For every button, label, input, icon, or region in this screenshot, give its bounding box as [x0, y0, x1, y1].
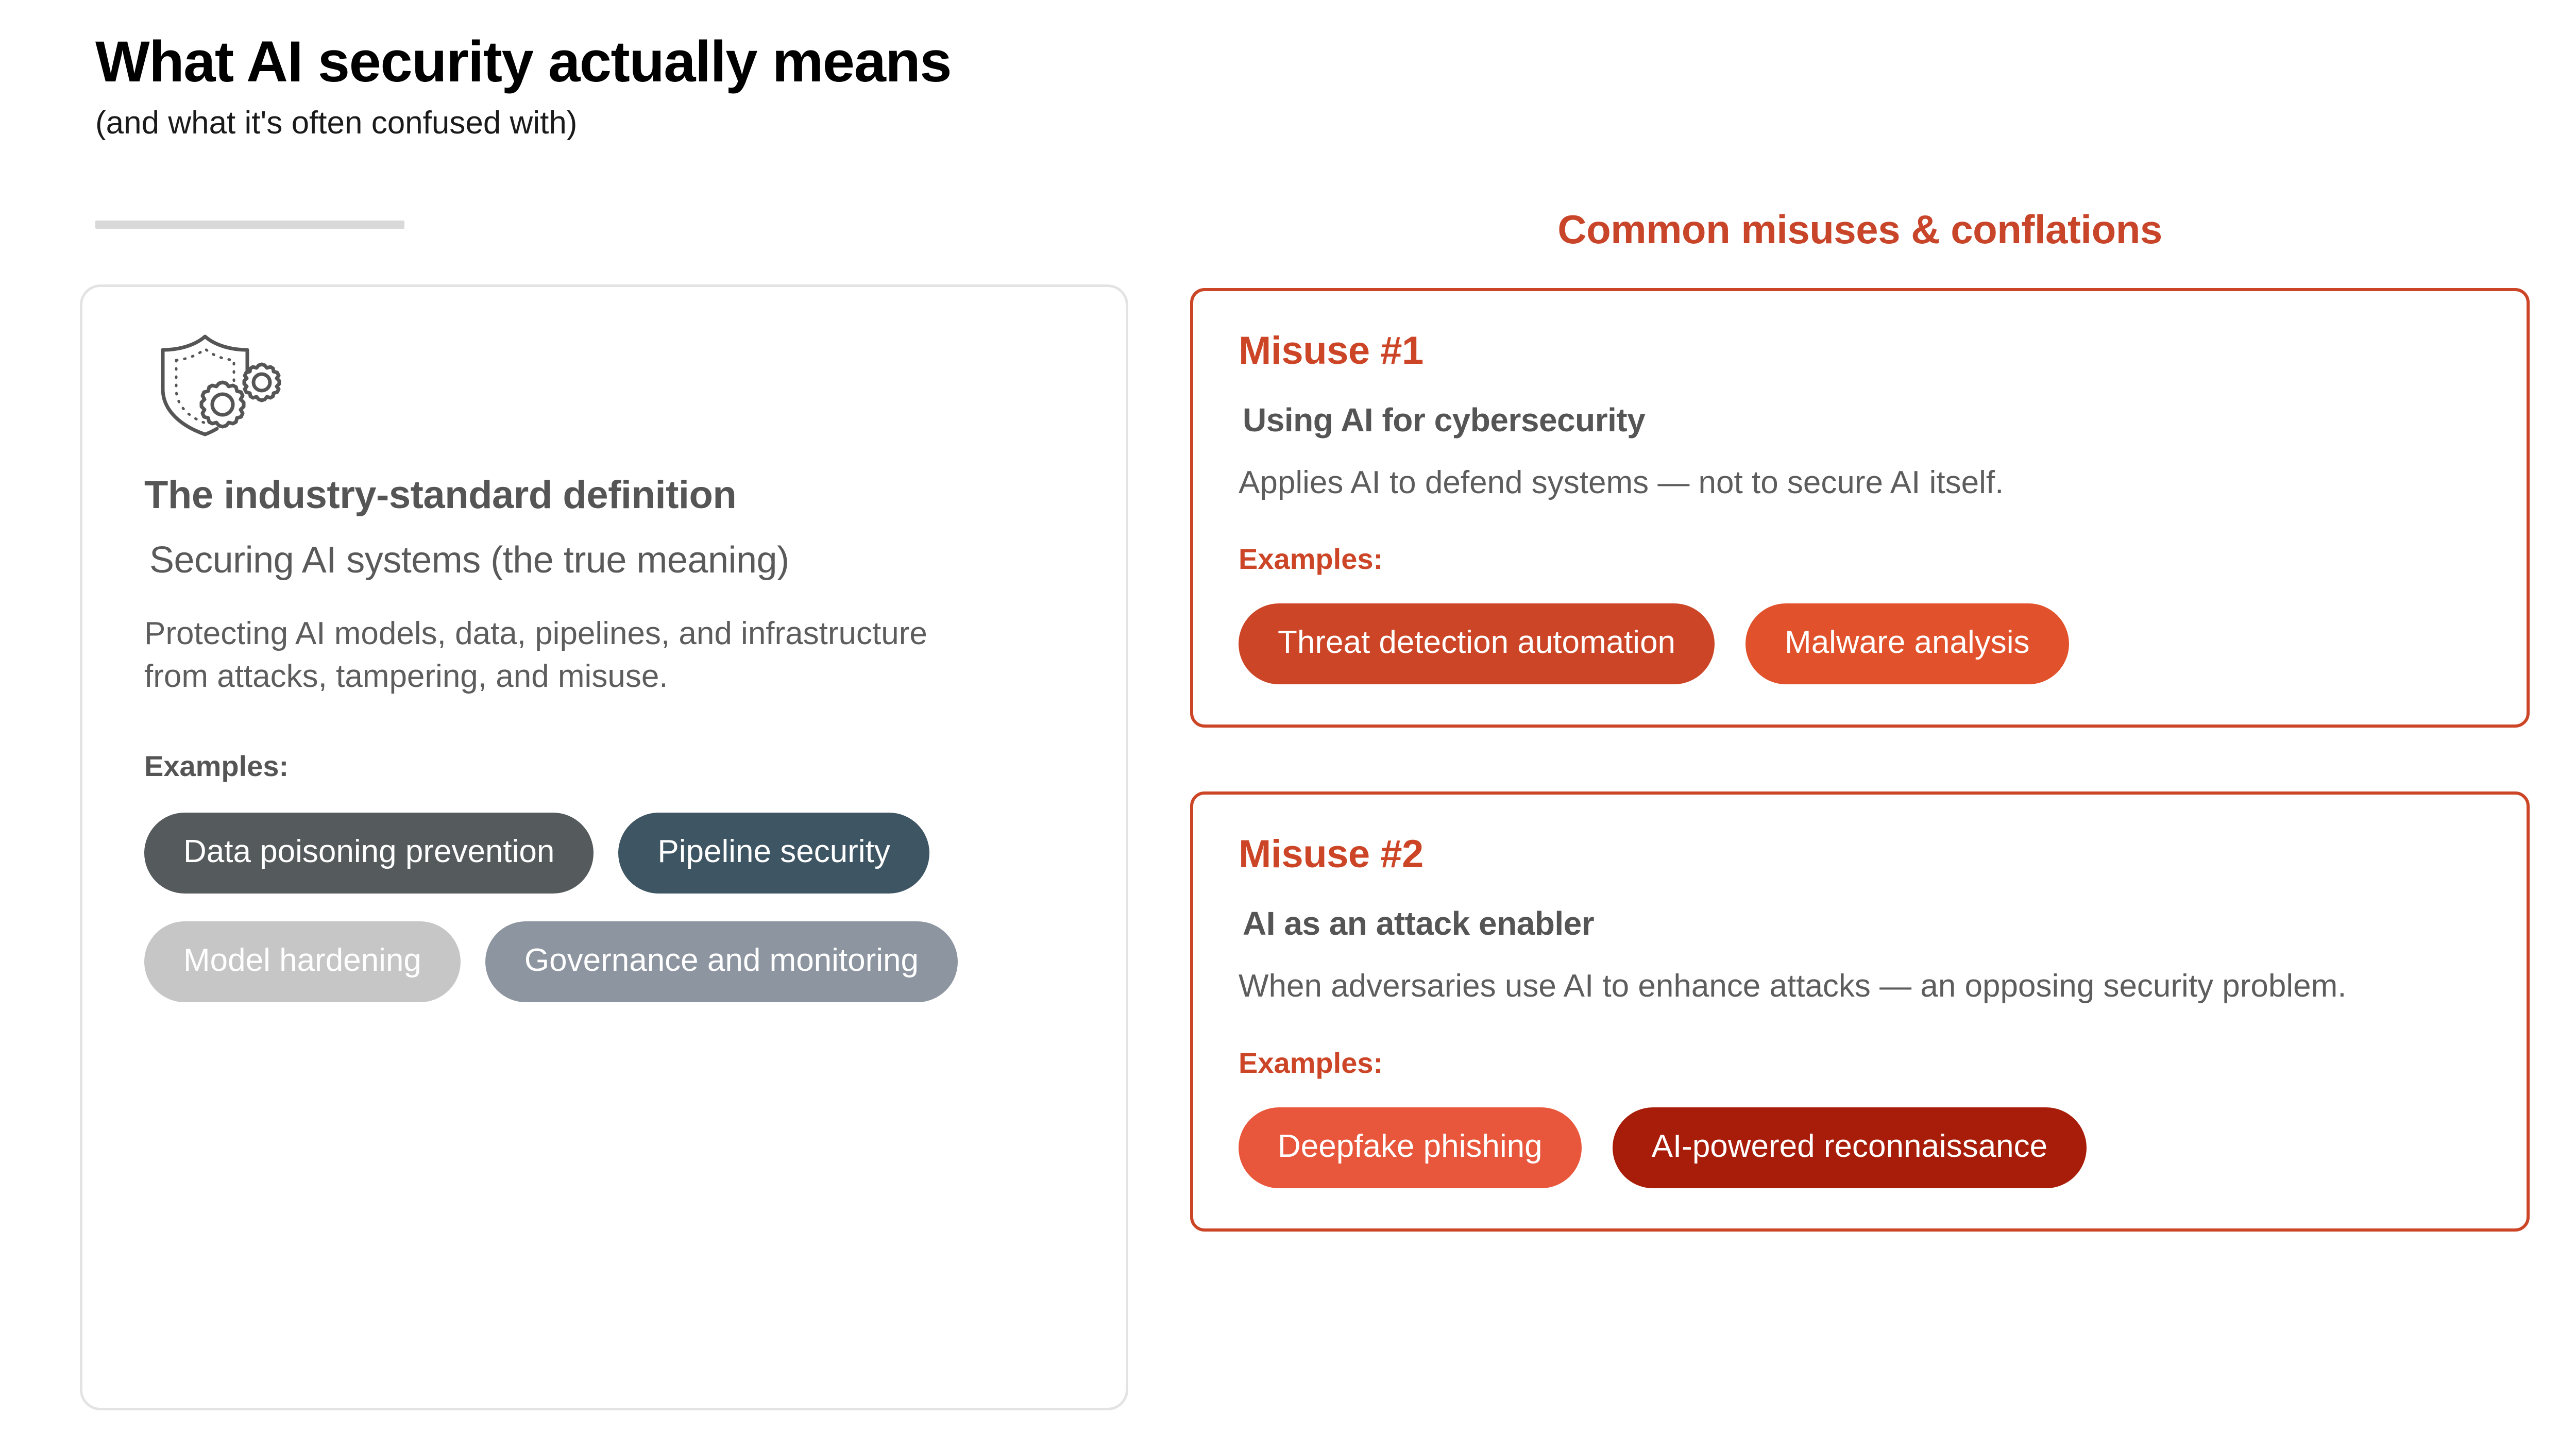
- title-divider-rule: [95, 221, 404, 229]
- misuse-card-1: Misuse #1 Using AI for cybersecurity App…: [1190, 288, 2530, 728]
- example-pill[interactable]: Deepfake phishing: [1239, 1107, 1582, 1188]
- example-pill[interactable]: Data poisoning prevention: [144, 813, 594, 894]
- example-pill[interactable]: Governance and monitoring: [485, 921, 958, 1002]
- shield-gears-icon: [156, 333, 290, 436]
- page-title: What AI security actually means: [95, 31, 1435, 93]
- misuse-body: Applies AI to defend systems — not to se…: [1239, 462, 2362, 504]
- misuse-tag: Misuse #2: [1239, 832, 2481, 877]
- misuse-examples-label: Examples:: [1239, 542, 2481, 576]
- definition-examples-list: Data poisoning prevention Pipeline secur…: [144, 813, 1064, 1002]
- misuse-examples-list: Deepfake phishing AI-powered reconnaissa…: [1239, 1107, 2481, 1188]
- misuse-heading: Using AI for cybersecurity: [1243, 401, 2481, 439]
- misuse-column-title: Common misuses & conflations: [1190, 206, 2530, 253]
- misuse-tag: Misuse #1: [1239, 328, 2481, 373]
- example-pill[interactable]: AI-powered reconnaissance: [1613, 1107, 2087, 1188]
- definition-body: Protecting AI models, data, pipelines, a…: [144, 613, 999, 698]
- example-pill[interactable]: Threat detection automation: [1239, 603, 1715, 684]
- misuse-heading: AI as an attack enabler: [1243, 904, 2481, 942]
- definition-card: The industry-standard definition Securin…: [80, 284, 1128, 1410]
- definition-heading: The industry-standard definition: [144, 473, 1064, 517]
- misuse-examples-label: Examples:: [1239, 1046, 2481, 1080]
- definition-examples-label: Examples:: [144, 749, 1064, 783]
- page-subtitle: (and what it's often confused with): [95, 106, 1435, 141]
- page-header: What AI security actually means (and wha…: [95, 31, 1435, 141]
- example-pill[interactable]: Model hardening: [144, 921, 461, 1002]
- misuse-body: When adversaries use AI to enhance attac…: [1239, 965, 2362, 1007]
- example-pill[interactable]: Pipeline security: [618, 813, 929, 894]
- misuse-card-2: Misuse #2 AI as an attack enabler When a…: [1190, 791, 2530, 1231]
- definition-subheading: Securing AI systems (the true meaning): [149, 539, 1064, 582]
- misuse-column: Common misuses & conflations Misuse #1 U…: [1190, 206, 2530, 1232]
- example-pill[interactable]: Malware analysis: [1745, 603, 2069, 684]
- misuse-examples-list: Threat detection automation Malware anal…: [1239, 603, 2481, 684]
